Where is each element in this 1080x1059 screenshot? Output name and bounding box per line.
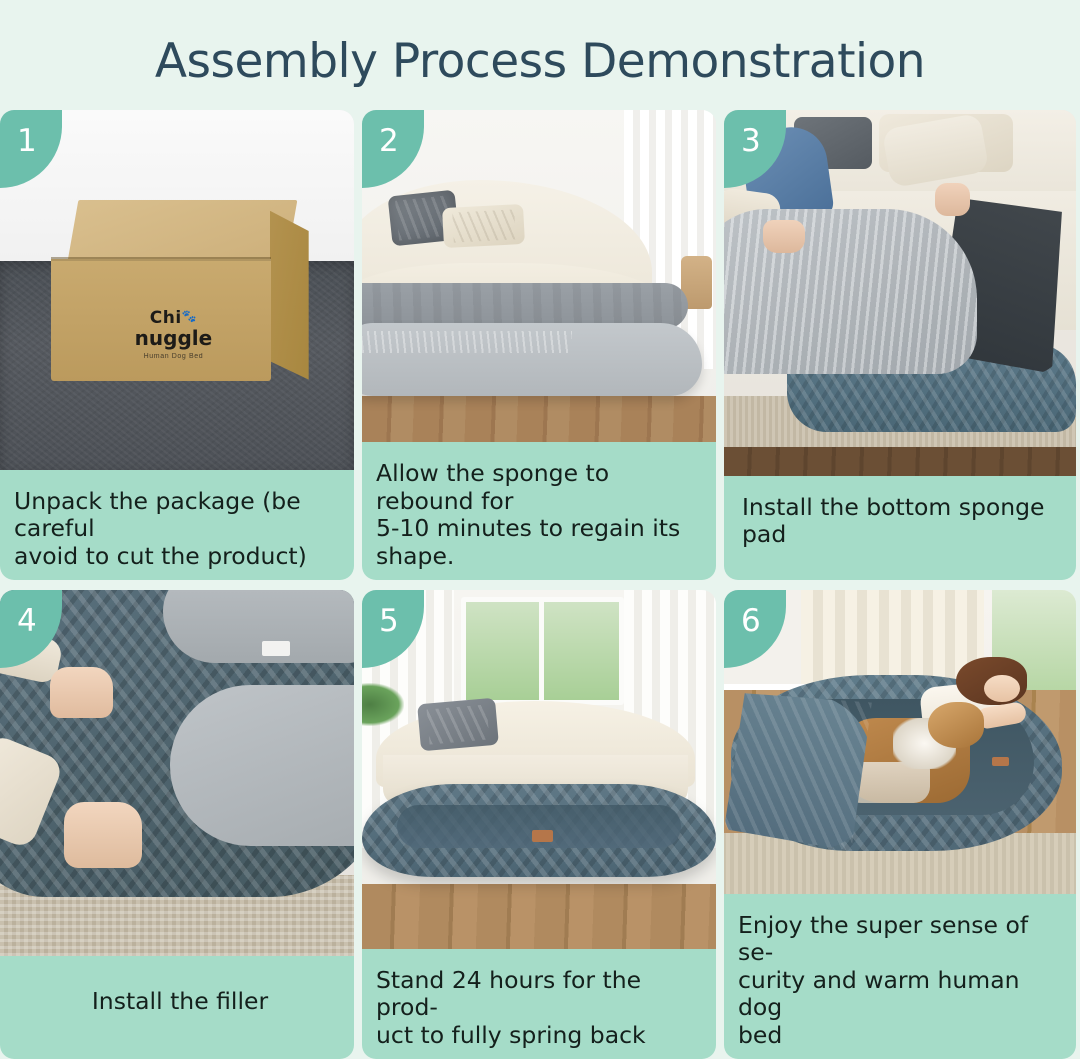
wood-floor — [362, 884, 716, 949]
page-title: Assembly Process Demonstration — [0, 34, 1080, 89]
box-top-face — [67, 200, 297, 261]
scene-install-sponge-pad — [724, 110, 1076, 476]
step-card-1: Chi🐾 nuggle Human Dog Bed 1 Unpack the p… — [0, 110, 354, 580]
scene-finished-bed — [362, 590, 716, 949]
step-caption-2: Allow the sponge to rebound for 5-10 min… — [362, 442, 716, 580]
person-upper-hand — [50, 667, 114, 718]
step-caption-5: Stand 24 hours for the prod- uct to full… — [362, 949, 716, 1059]
steps-grid: Chi🐾 nuggle Human Dog Bed 1 Unpack the p… — [0, 110, 1080, 1059]
gray-sponge-pad — [362, 323, 702, 396]
brand-leather-patch — [532, 830, 553, 841]
step-photo-5: 5 — [362, 590, 716, 949]
brand-name-line2: nuggle — [113, 326, 233, 350]
box-seam — [51, 257, 270, 259]
brand-subtitle: Human Dog Bed — [113, 353, 233, 360]
step-caption-6: Enjoy the super sense of se- curity and … — [724, 894, 1076, 1059]
brand-leather-patch — [992, 757, 1010, 766]
step-caption-4: Install the filler — [0, 956, 354, 1059]
step-card-2: 2 Allow the sponge to rebound for 5-10 m… — [362, 110, 716, 580]
cream-knit-pillow — [442, 204, 525, 248]
paw-icon: 🐾 — [182, 309, 197, 323]
step-photo-3: 3 — [724, 110, 1076, 476]
gray-filler-lower — [170, 685, 354, 846]
person-lower-hand — [64, 802, 142, 868]
house-plant — [362, 683, 404, 726]
dog-head — [928, 702, 984, 748]
gray-knit-pillow — [417, 698, 499, 751]
gray-filler-upper — [163, 590, 354, 663]
step-card-6: 6 Enjoy the super sense of se- curity an… — [724, 590, 1076, 1059]
wood-floor — [362, 396, 716, 442]
box-brand-logo: Chi🐾 nuggle Human Dog Bed — [113, 308, 233, 360]
scene-install-filler — [0, 590, 354, 956]
step-card-5: 5 Stand 24 hours for the prod- uct to fu… — [362, 590, 716, 1059]
care-label-tag — [262, 641, 290, 656]
bed-inner-cushion — [397, 805, 680, 848]
step-photo-2: 2 — [362, 110, 716, 442]
step-card-4: 4 Install the filler — [0, 590, 354, 1059]
person-right-hand — [935, 183, 970, 216]
step-caption-1: Unpack the package (be careful avoid to … — [0, 470, 354, 580]
step-photo-1: Chi🐾 nuggle Human Dog Bed 1 — [0, 110, 354, 470]
step-photo-6: 6 — [724, 590, 1076, 894]
person-left-hand — [763, 220, 805, 253]
infographic-page: Assembly Process Demonstration Chi🐾 nugg… — [0, 0, 1080, 1059]
window-with-trees — [461, 597, 624, 705]
brand-name-line1: Chi — [150, 308, 182, 328]
wood-floor — [724, 447, 1076, 476]
step-card-3: 3 Install the bottom sponge pad — [724, 110, 1076, 580]
matching-blanket — [724, 693, 872, 851]
scene-sponge-rebound — [362, 110, 716, 442]
woman-face — [984, 675, 1019, 702]
box-side-face — [270, 211, 309, 380]
scene-unpack-box: Chi🐾 nuggle Human Dog Bed — [0, 110, 354, 470]
step-photo-4: 4 — [0, 590, 354, 956]
step-caption-3: Install the bottom sponge pad — [724, 476, 1076, 580]
